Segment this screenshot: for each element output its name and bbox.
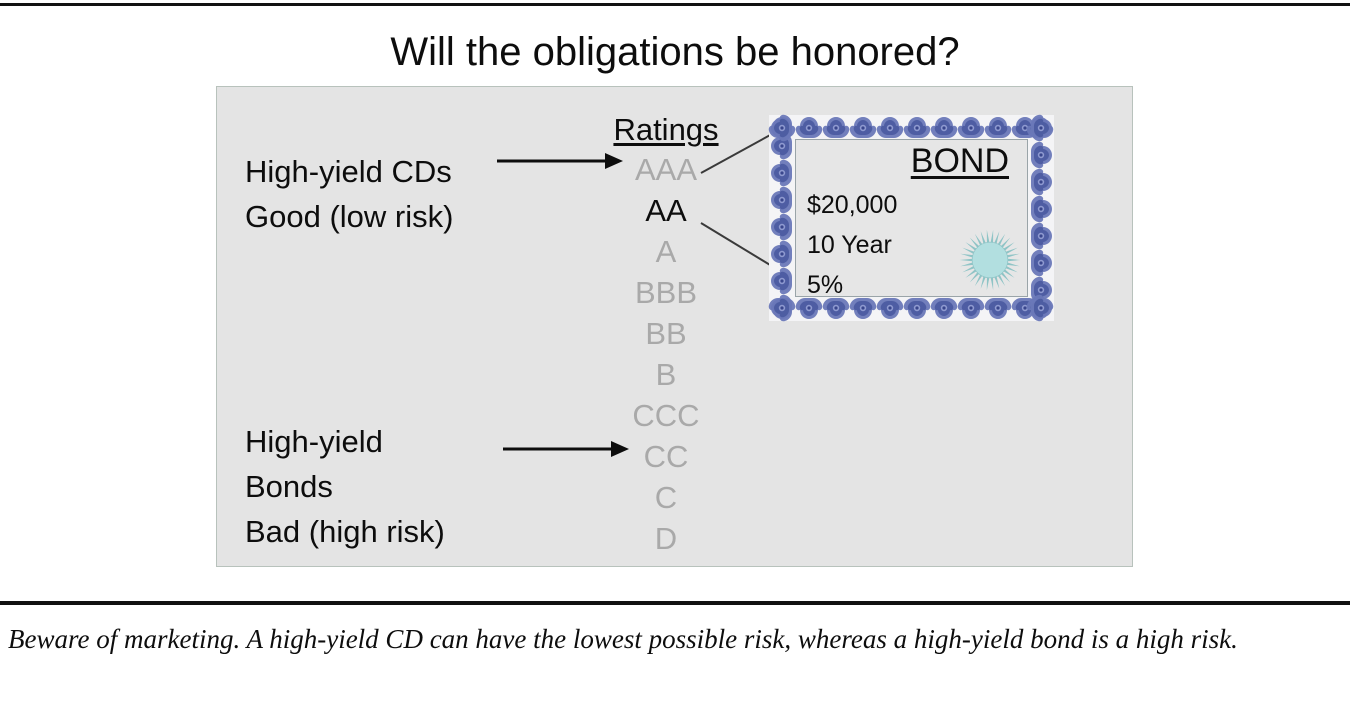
rating-item-aaa[interactable]: AAA [586, 150, 746, 191]
caption-text: Beware of marketing. A high-yield CD can… [8, 620, 1308, 659]
bond-term: 10 Year [807, 233, 892, 258]
ratings-heading: Ratings [586, 113, 746, 146]
bond-amount: $20,000 [807, 193, 897, 218]
rating-item-d[interactable]: D [586, 519, 746, 560]
diagram-panel: High-yield CDs Good (low risk) High-yiel… [216, 86, 1133, 567]
bottom-divider-rule [0, 601, 1350, 605]
rating-item-bb[interactable]: BB [586, 314, 746, 355]
bond-heading: BOND [796, 142, 1009, 180]
rating-item-bbb[interactable]: BBB [586, 273, 746, 314]
page-title: Will the obligations be honored? [0, 30, 1350, 75]
rating-item-aa[interactable]: AA [586, 191, 746, 232]
label-bonds-risk: Bad (high risk) [245, 516, 445, 547]
rating-item-cc[interactable]: CC [586, 437, 746, 478]
certificate-inner-face: BOND $20,000 10 Year 5% [795, 139, 1028, 297]
certificate-seal-icon [957, 227, 1023, 293]
ratings-column: Ratings AAA AA A BBB BB B CCC CC C D [586, 113, 746, 560]
label-bonds: Bonds [245, 471, 333, 502]
bond-rate: 5% [807, 273, 843, 298]
rating-item-b[interactable]: B [586, 355, 746, 396]
page-title-text: Will the obligations be honored? [390, 30, 959, 75]
rating-item-ccc[interactable]: CCC [586, 396, 746, 437]
label-cds-risk: Good (low risk) [245, 201, 453, 232]
bond-certificate: BOND $20,000 10 Year 5% [768, 114, 1055, 322]
rating-item-c[interactable]: C [586, 478, 746, 519]
label-high-yield-cds: High-yield CDs [245, 156, 452, 187]
rating-item-a[interactable]: A [586, 232, 746, 273]
label-high-yield: High-yield [245, 426, 383, 457]
top-divider-rule [0, 3, 1350, 6]
